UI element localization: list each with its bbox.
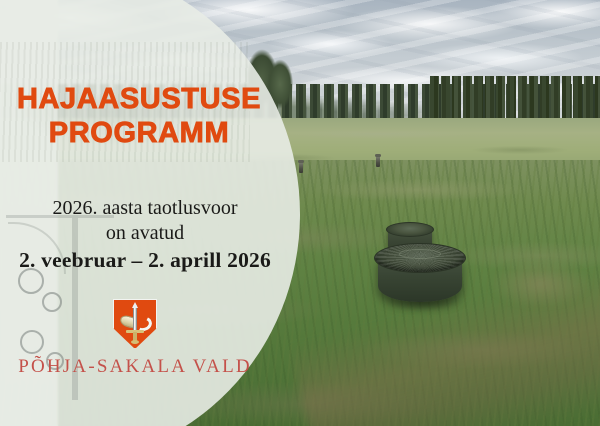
- municipality-name: PÕHJA-SAKALA VALD: [0, 356, 270, 378]
- field-post-right: [376, 156, 380, 167]
- field-post-right-cap: [375, 154, 381, 157]
- septic-tank-hatch-ring: [399, 249, 441, 259]
- poster-heading: HAJAASUSTUSE PROGRAMM: [0, 82, 278, 150]
- field-post-left-cap: [298, 160, 304, 163]
- coat-of-arms: [113, 299, 157, 349]
- dirt-patch: [470, 250, 600, 320]
- poster-canvas: HAJAASUSTUSE PROGRAMM 2026. aasta taotlu…: [0, 0, 600, 426]
- sword-blade-icon: [133, 305, 137, 331]
- heading-line-2: PROGRAMM: [0, 116, 278, 150]
- conifer-treeline-tall: [430, 76, 600, 124]
- ghost-gate-scroll-3: [20, 330, 44, 354]
- sword-pommel-icon: [131, 340, 139, 344]
- poster-subtitle: 2026. aasta taotlusvoor on avatud 2. vee…: [0, 196, 290, 273]
- septic-tank-small-lid: [386, 222, 434, 237]
- heading-line-1: HAJAASUSTUSE: [0, 82, 278, 116]
- subtitle-line-2: on avatud: [106, 222, 184, 244]
- application-period-dates: 2. veebruar – 2. aprill 2026: [0, 248, 290, 273]
- ghost-gate-scroll-2: [42, 292, 62, 312]
- field-post-left: [299, 162, 303, 173]
- subtitle-line-1: 2026. aasta taotlusvoor: [53, 197, 238, 219]
